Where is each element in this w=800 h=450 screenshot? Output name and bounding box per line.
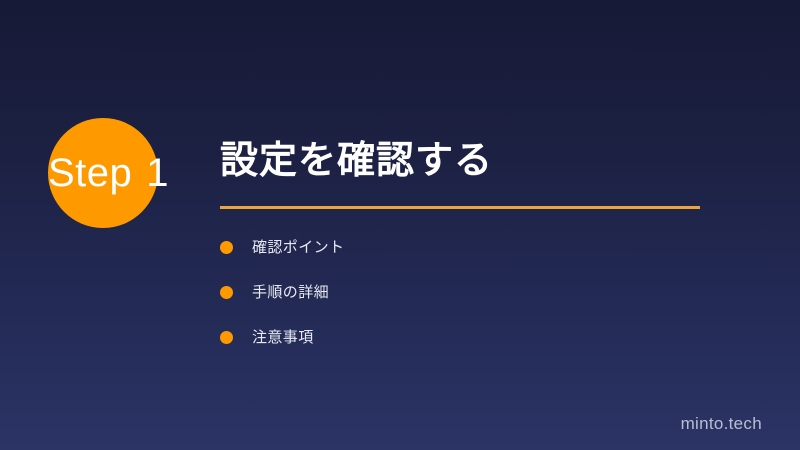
list-item-label: 確認ポイント [252, 240, 344, 255]
list-item: 手順の詳細 [220, 281, 700, 303]
step-label: Step 1 [48, 118, 198, 228]
step-word: Step [48, 153, 132, 193]
bullet-dot-icon [220, 241, 233, 254]
title-underline-rule [220, 206, 700, 209]
page-title: 設定を確認する [220, 140, 720, 184]
slide-canvas: Step 1 設定を確認する 確認ポイント 手順の詳細 注意事項 minto.t… [0, 0, 800, 450]
bullet-dot-icon [220, 331, 233, 344]
step-number: 1 [146, 153, 169, 193]
watermark-label: minto.tech [681, 414, 762, 434]
step-badge: Step 1 [48, 118, 178, 228]
list-item-label: 手順の詳細 [252, 285, 329, 300]
bullet-dot-icon [220, 286, 233, 299]
list-item-label: 注意事項 [252, 330, 314, 345]
list-item: 確認ポイント [220, 236, 700, 258]
list-item: 注意事項 [220, 326, 700, 348]
title-block: 設定を確認する [220, 140, 720, 209]
bullet-list: 確認ポイント 手順の詳細 注意事項 [220, 236, 700, 348]
